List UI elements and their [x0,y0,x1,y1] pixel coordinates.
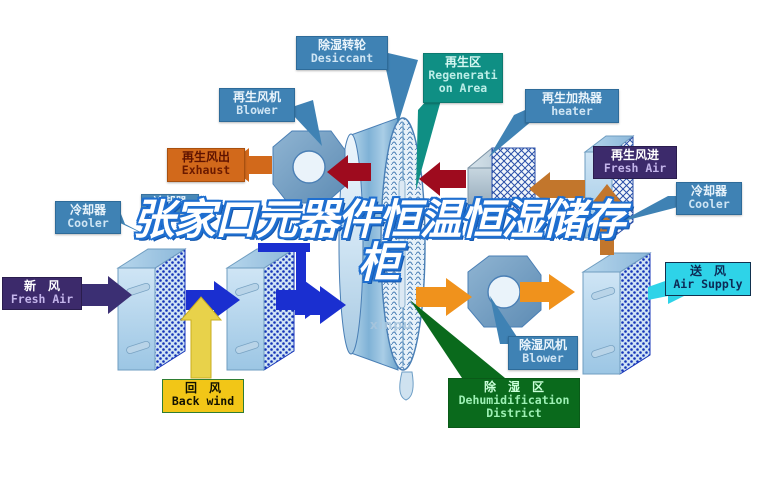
label-desiccant-wheel[interactable]: 除湿转轮 Desiccant [296,36,388,70]
label-cn: 再生风进 [594,149,676,162]
label-en-line2: District [449,407,579,420]
flow-regen-in [529,172,585,206]
label-en: Air Supply [666,278,750,291]
label-en: Cooler [677,198,741,211]
label-cn: 再生风机 [220,91,294,104]
label-cn: 除湿转轮 [297,39,387,52]
label-cn: 除 湿 区 [449,381,579,394]
label-en: Blower [220,104,294,117]
label-regeneration-heater[interactable]: 再生加热器 heater [525,89,619,123]
label-fresh-air-inlet[interactable]: 新 风 Fresh Air [2,277,82,310]
label-cn: 再生加热器 [526,92,618,105]
label-cn: 新 风 [3,280,81,293]
label-regeneration-fresh-air-in[interactable]: 再生风进 Fresh Air [593,146,677,179]
cooling-coil-3 [583,253,650,374]
label-cooler-right[interactable]: 冷却器 Cooler [676,182,742,215]
label-en: Cooler [56,217,120,230]
label-cn: 冷却器 [56,204,120,217]
regen-heater-block [468,148,535,212]
desiccant-rotor [339,118,425,400]
label-en: Fresh Air [594,162,676,175]
label-en: heater [526,105,618,118]
label-cn: 冷却器 [142,196,198,208]
label-en: Blower [509,352,577,365]
label-dehumidification-district[interactable]: 除 湿 区 Dehumidification District [448,378,580,428]
label-cn: 冷却器 [677,185,741,198]
label-cn: 送 风 [666,265,750,278]
label-regeneration-exhaust[interactable]: 再生风出 Exhaust [167,148,245,182]
label-cn: 再生区 [424,56,502,69]
diagram-artwork [0,0,757,488]
label-cn: 回 风 [163,382,243,395]
label-cn: 除湿风机 [509,339,577,352]
dehumidifier-process-diagram: 除湿转轮 Desiccant 再生风机 Blower 再生区 Regenerat… [0,0,757,488]
label-back-wind[interactable]: 回 风 Back wind [162,379,244,413]
label-en: Back wind [163,395,243,408]
label-en-line2: on Area [424,82,502,95]
site-watermark: xinpu [370,318,413,332]
label-air-supply[interactable]: 送 风 Air Supply [665,262,751,296]
label-en: Exhaust [168,164,244,177]
label-cooler-left[interactable]: 冷却器 Cooler [55,201,121,234]
label-cooler-mid[interactable]: 冷却器 [141,194,199,214]
cooling-coil-1 [118,249,185,370]
label-regeneration-area[interactable]: 再生区 Regenerati on Area [423,53,503,103]
label-cn: 再生风出 [168,151,244,164]
label-en: Desiccant [297,52,387,65]
label-en: Fresh Air [3,293,81,306]
label-dehumidify-blower[interactable]: 除湿风机 Blower [508,336,578,370]
label-regeneration-blower[interactable]: 再生风机 Blower [219,88,295,122]
